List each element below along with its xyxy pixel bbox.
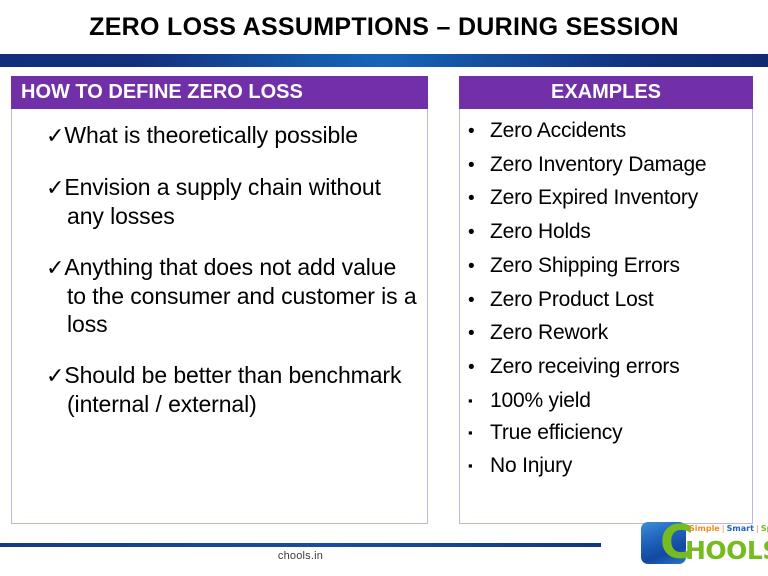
list-item: •Zero Shipping Errors (468, 250, 746, 284)
list-item: •Zero receiving errors (468, 351, 746, 385)
panel-examples: EXAMPLES •Zero Accidents •Zero Inventory… (459, 76, 753, 524)
list-item: ▪100% yield (468, 385, 746, 418)
page-title: ZERO LOSS ASSUMPTIONS – DURING SESSION (0, 11, 768, 43)
square-bullet-icon: ▪ (468, 417, 490, 450)
tagline-simple: Simple (689, 524, 720, 533)
examples-list: •Zero Accidents •Zero Inventory Damage •… (468, 115, 746, 483)
list-item: •Zero Holds (468, 216, 746, 250)
list-item: ▪No Injury (468, 450, 746, 483)
list-item-label: 100% yield (490, 389, 591, 412)
bullet-icon: • (468, 285, 490, 318)
title-divider-bar (0, 54, 768, 67)
check-icon: ✓ (46, 123, 64, 148)
list-item-label: Zero Holds (490, 220, 591, 243)
list-item-label: Zero receiving errors (490, 355, 680, 378)
panel-left-body: ✓What is theoretically possible ✓Envisio… (11, 109, 428, 524)
check-icon: ✓ (46, 175, 64, 200)
list-item: ▪True efficiency (468, 417, 746, 450)
tagline-separator: | (754, 524, 761, 533)
tagline-speed: Speed (761, 524, 768, 533)
footer-divider (0, 543, 601, 547)
list-item: ✓Should be better than benchmark (intern… (46, 361, 419, 418)
bullet-icon: • (468, 352, 490, 385)
list-item-label: Zero Product Lost (490, 288, 654, 311)
list-item-label: No Injury (490, 454, 572, 477)
list-item-label: What is theoretically possible (64, 122, 358, 148)
tagline-separator: | (720, 524, 727, 533)
check-icon: ✓ (46, 255, 64, 280)
list-item: ✓Envision a supply chain without any los… (46, 173, 419, 230)
list-item: ✓Anything that does not add value to the… (46, 253, 419, 338)
check-icon: ✓ (46, 363, 64, 388)
bullet-icon: • (468, 116, 490, 149)
list-item-label: Zero Expired Inventory (490, 186, 698, 209)
list-item: •Zero Accidents (468, 115, 746, 149)
panel-right-header: EXAMPLES (459, 76, 753, 109)
footer-site-label: chools.in (0, 550, 601, 562)
list-item: •Zero Inventory Damage (468, 149, 746, 183)
list-item-label: Should be better than benchmark (interna… (64, 362, 401, 417)
chools-logo: C HOOLS Simple|Smart|Speed (641, 518, 761, 568)
list-item: •Zero Product Lost (468, 284, 746, 318)
panel-left-header: HOW TO DEFINE ZERO LOSS (11, 76, 428, 109)
list-item-label: Zero Shipping Errors (490, 254, 680, 277)
bullet-icon: • (468, 251, 490, 284)
list-item-label: Anything that does not add value to the … (64, 254, 416, 337)
tagline-smart: Smart (727, 524, 754, 533)
list-item: •Zero Expired Inventory (468, 182, 746, 216)
bullet-icon: • (468, 217, 490, 250)
bullet-icon: • (468, 150, 490, 183)
square-bullet-icon: ▪ (468, 385, 490, 418)
bullet-icon: • (468, 183, 490, 216)
list-item-label: Zero Rework (490, 321, 608, 344)
square-bullet-icon: ▪ (468, 450, 490, 483)
check-list: ✓What is theoretically possible ✓Envisio… (46, 121, 419, 418)
list-item-label: Envision a supply chain without any loss… (64, 174, 381, 229)
list-item: ✓What is theoretically possible (46, 121, 419, 150)
list-item-label: Zero Inventory Damage (490, 153, 706, 176)
panel-how-to-define-zero-loss: HOW TO DEFINE ZERO LOSS ✓What is theoret… (11, 76, 428, 524)
logo-wordmark: HOOLS (685, 538, 768, 563)
bullet-icon: • (468, 318, 490, 351)
list-item: •Zero Rework (468, 317, 746, 351)
list-item-label: True efficiency (490, 421, 622, 444)
list-item-label: Zero Accidents (490, 119, 626, 142)
panel-right-body: •Zero Accidents •Zero Inventory Damage •… (459, 109, 753, 524)
logo-tagline: Simple|Smart|Speed (689, 524, 768, 534)
